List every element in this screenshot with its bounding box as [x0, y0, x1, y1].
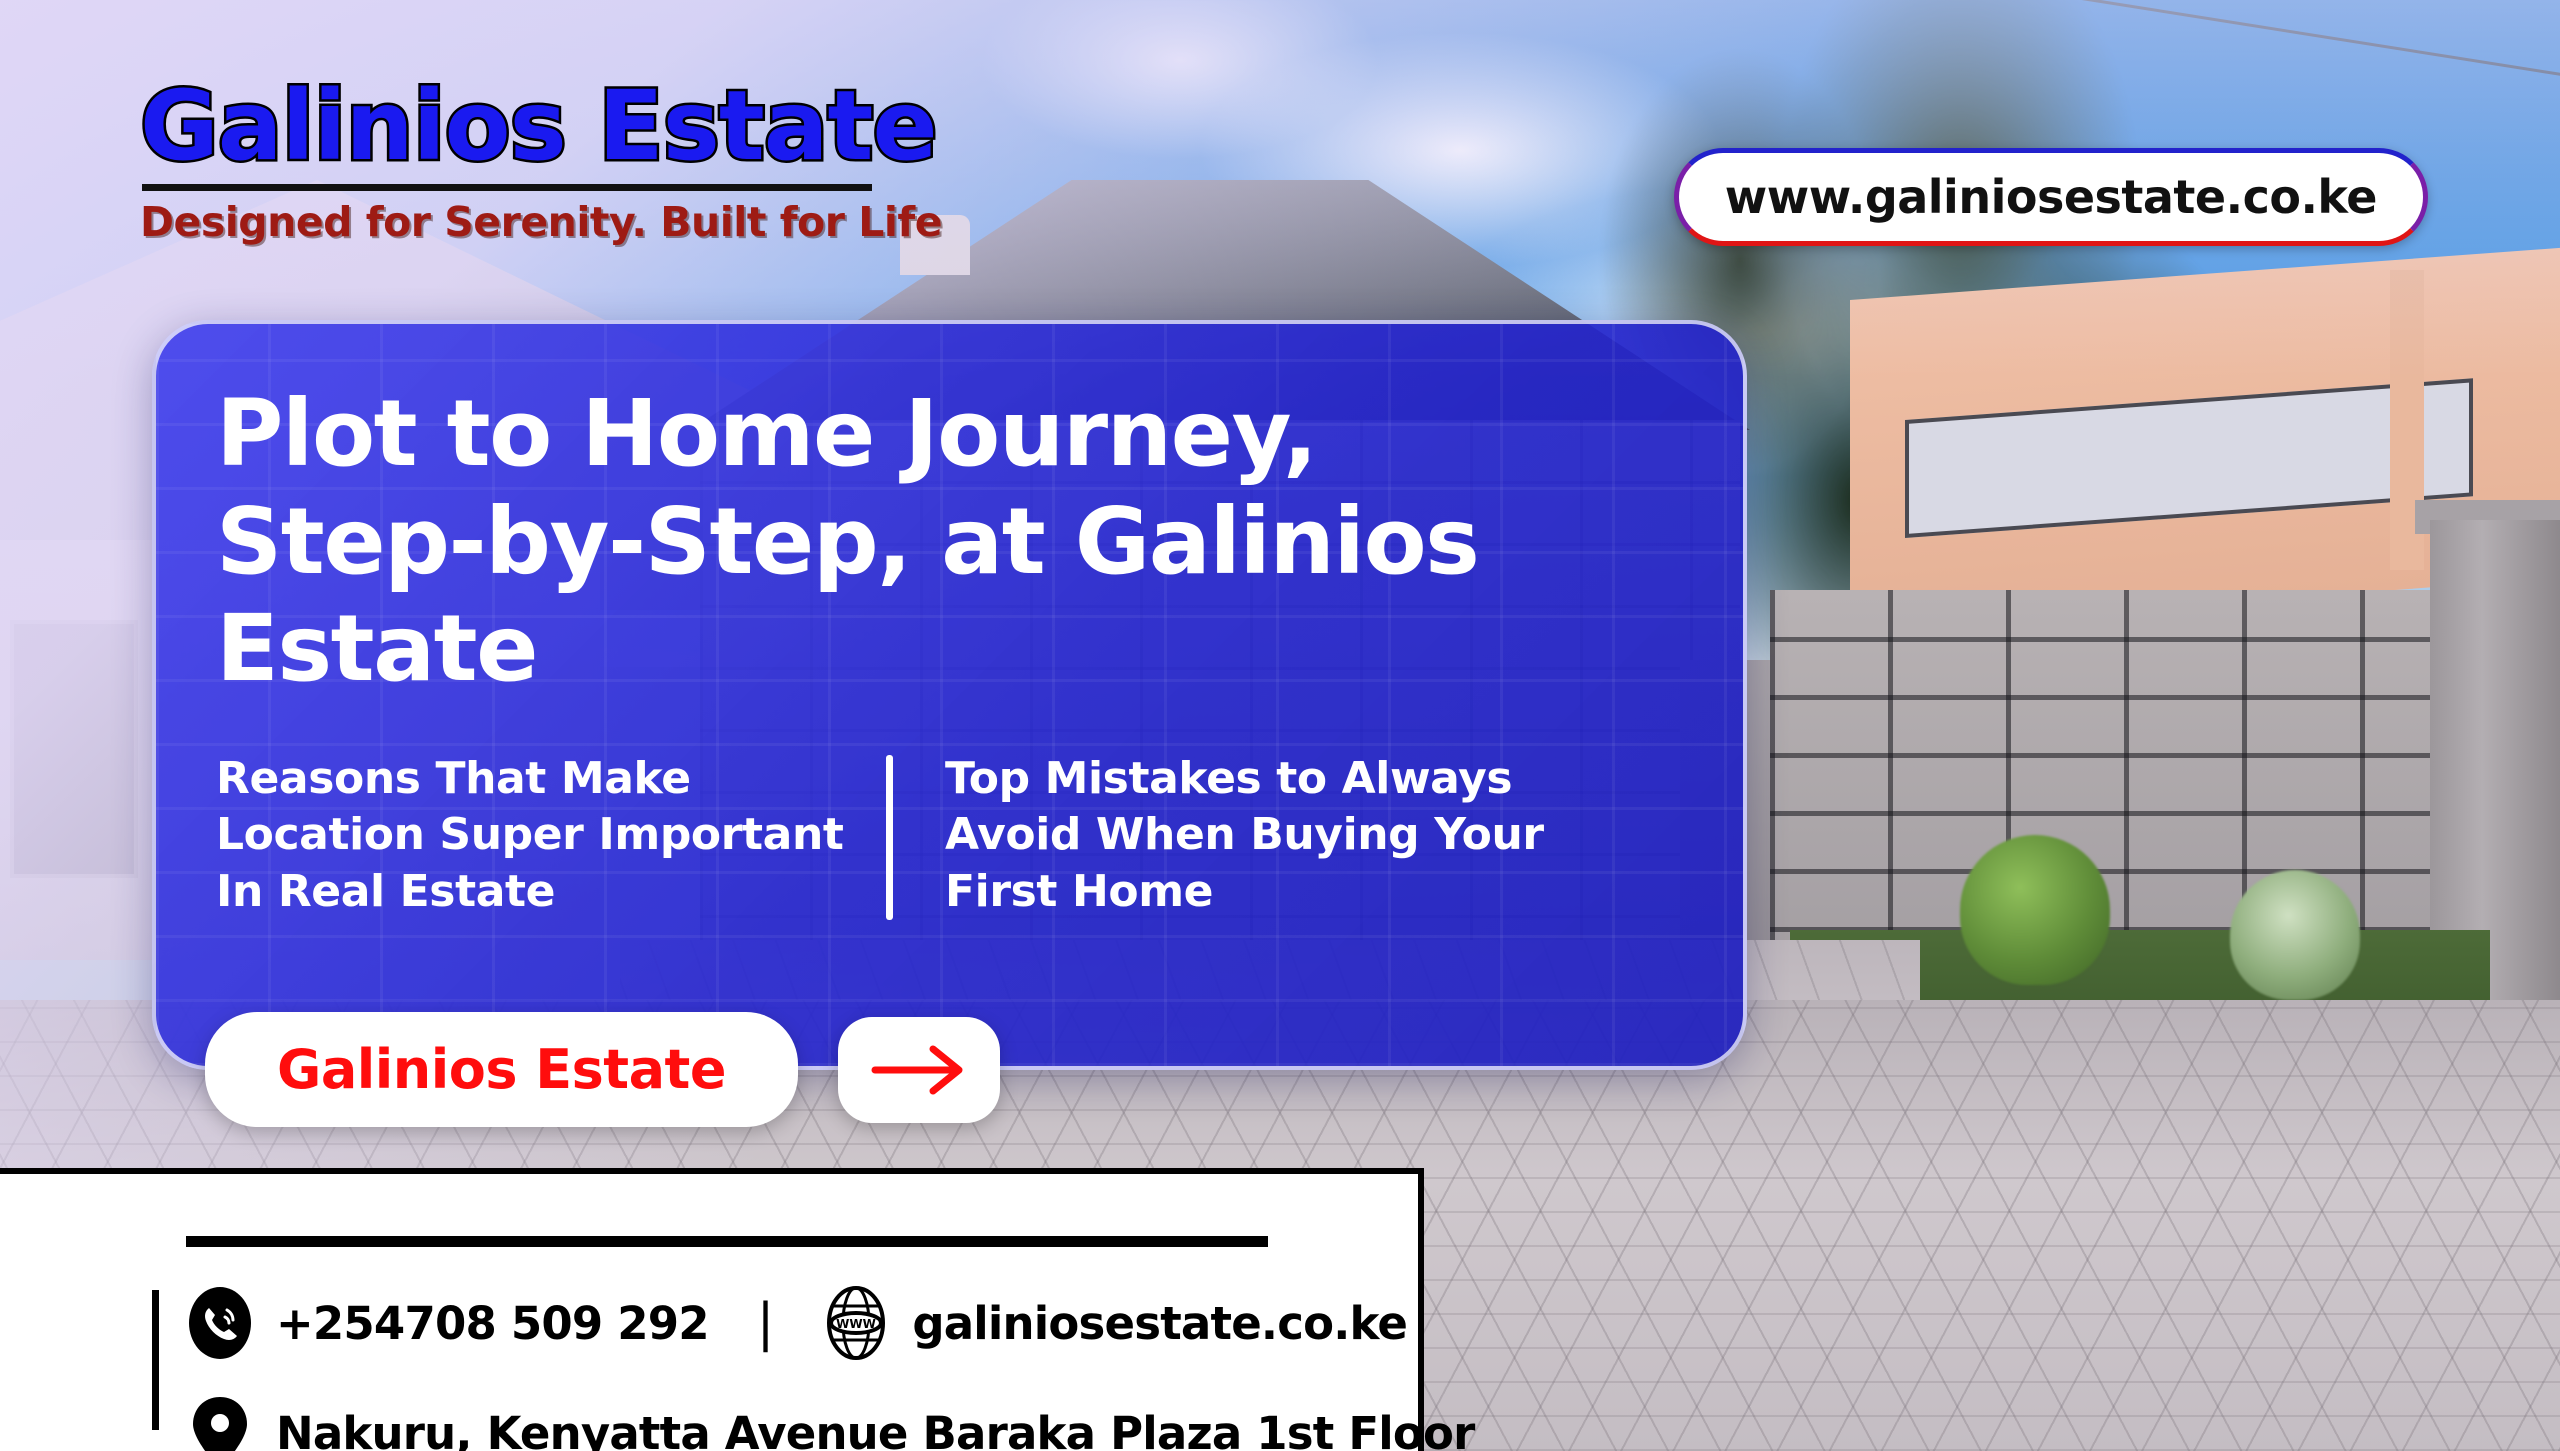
contact-footer: +254708 509 292 | WWW galiniosestate.co.… — [0, 1168, 1424, 1451]
globe-www-icon: WWW — [822, 1286, 890, 1360]
website-url-text: www.galiniosestate.co.ke — [1725, 170, 2377, 224]
map-pin-icon — [186, 1396, 254, 1451]
logo-wordmark: Galinios Estate — [140, 78, 900, 174]
contact-details: +254708 509 292 | WWW galiniosestate.co.… — [186, 1286, 1475, 1451]
brand-tagline: Designed for Serenity. Built for Life — [140, 201, 900, 244]
brand-logo: Galinios Estate Designed for Serenity. B… — [140, 78, 900, 244]
marketing-poster: Galinios Estate Designed for Serenity. B… — [0, 0, 2560, 1451]
phone-icon — [186, 1286, 254, 1360]
footer-divider-rule — [186, 1236, 1268, 1247]
website-url-badge[interactable]: www.galiniosestate.co.ke — [1674, 148, 2428, 246]
contact-row-phone: +254708 509 292 | WWW galiniosestate.co.… — [186, 1286, 1475, 1360]
cta-row: Galinios Estate — [205, 1012, 1000, 1127]
headline-card: Plot to Home Journey, Step-by-Step, at G… — [152, 320, 1747, 1070]
office-address: Nakuru, Kenyatta Avenue Baraka Plaza 1st… — [276, 1407, 1475, 1451]
footer-vertical-rule — [152, 1290, 159, 1430]
subheadline-right: Top Mistakes to Always Avoid When Buying… — [945, 751, 1645, 920]
cta-button-label: Galinios Estate — [277, 1038, 726, 1101]
page-title: Plot to Home Journey, Step-by-Step, at G… — [216, 380, 1576, 703]
cta-button[interactable]: Galinios Estate — [205, 1012, 798, 1127]
svg-text:WWW: WWW — [836, 1317, 876, 1331]
subheadline-row: Reasons That Make Location Super Importa… — [216, 751, 1683, 920]
logo-underline — [142, 184, 872, 191]
subheadline-left: Reasons That Make Location Super Importa… — [216, 751, 876, 920]
subheadline-divider — [886, 755, 893, 920]
phone-number[interactable]: +254708 509 292 — [276, 1297, 709, 1350]
contact-separator: | — [757, 1293, 775, 1353]
arrow-right-icon[interactable] — [838, 1017, 1000, 1123]
website-domain[interactable]: galiniosestate.co.ke — [912, 1297, 1407, 1350]
contact-row-address: Nakuru, Kenyatta Avenue Baraka Plaza 1st… — [186, 1396, 1475, 1451]
